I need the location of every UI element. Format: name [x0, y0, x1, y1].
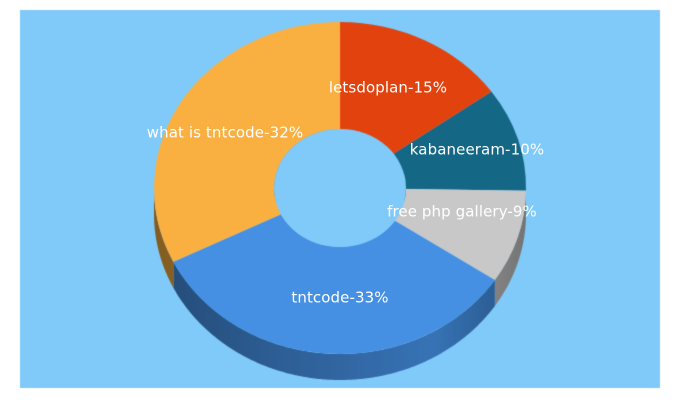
pie-chart-canvas: [0, 0, 680, 400]
chart-container: letsdoplan-15%kabaneeram-10%free php gal…: [0, 0, 680, 400]
